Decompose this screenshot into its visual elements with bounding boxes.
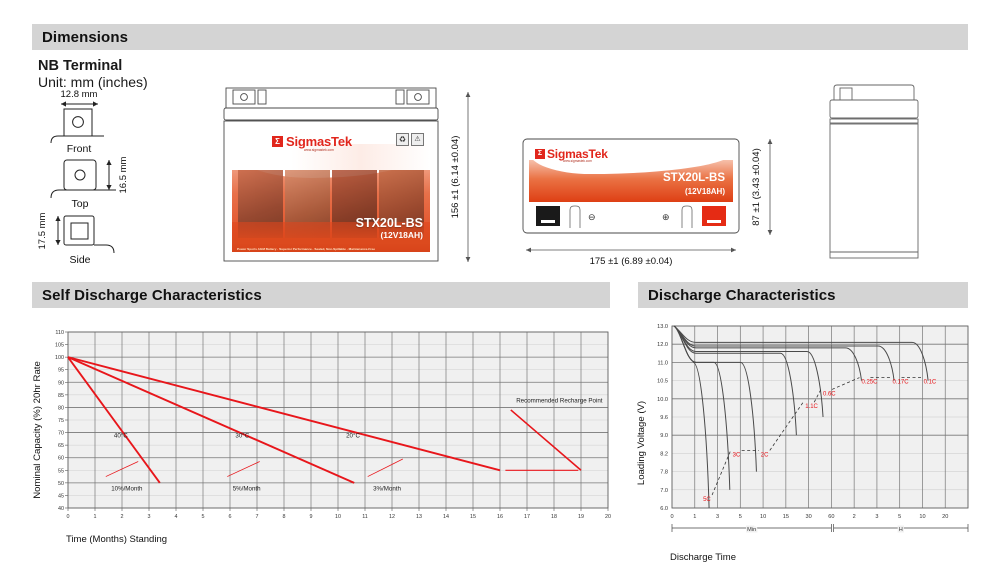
battery-rating-front: (12V18AH) <box>380 230 423 240</box>
discharge-section-header: Discharge Characteristics <box>638 282 968 308</box>
battery-rating-side: (12V18AH) <box>685 187 725 196</box>
svg-text:3: 3 <box>875 514 878 520</box>
self-discharge-xlabel: Time (Months) Standing <box>66 534 167 545</box>
battery-height-text: 156 ±1 (6.14 ±0.04) <box>450 136 461 219</box>
recycle-icon: ♻ <box>396 133 409 146</box>
svg-text:1: 1 <box>693 514 696 520</box>
svg-text:40°C: 40°C <box>114 433 128 440</box>
discharge-xlabel: Discharge Time <box>670 552 736 563</box>
svg-text:10: 10 <box>335 514 341 520</box>
terminal-height-label: 17.5 mm <box>37 212 48 249</box>
svg-text:10%/Month: 10%/Month <box>111 485 143 492</box>
svg-text:85: 85 <box>58 393 64 399</box>
svg-text:4: 4 <box>175 514 178 520</box>
svg-text:5: 5 <box>898 514 901 520</box>
battery-height-dimension: 156 ±1 (6.14 ±0.04) <box>440 80 500 270</box>
svg-text:3C: 3C <box>733 452 741 458</box>
svg-text:15: 15 <box>783 514 789 520</box>
nb-terminal-heading-block: NB Terminal Unit: mm (inches) <box>38 58 148 91</box>
svg-text:13: 13 <box>416 514 422 520</box>
battery-width-text: 87 ±1 (3.43 ±0.04) <box>751 148 762 226</box>
svg-text:45: 45 <box>58 493 64 499</box>
svg-text:Min: Min <box>747 527 756 533</box>
svg-text:0.6C: 0.6C <box>823 391 836 397</box>
svg-text:7.0: 7.0 <box>660 488 668 494</box>
battery-brand-block: Σ SigmasTek <box>272 134 352 149</box>
svg-text:80: 80 <box>58 405 64 411</box>
positive-terminal <box>702 206 726 226</box>
battery-front-view: Σ SigmasTek www.sigmastek.com ♻ ⚠ STX20L… <box>222 86 442 264</box>
svg-text:10: 10 <box>760 514 766 520</box>
battery-side-view: Σ SigmasTek www.sigmastek.com STX20L-BS … <box>522 138 740 234</box>
battery-model-front: STX20L-BS <box>356 216 423 230</box>
negative-terminal <box>536 206 560 226</box>
svg-text:60: 60 <box>828 514 834 520</box>
svg-text:H: H <box>899 527 903 533</box>
svg-text:90: 90 <box>58 380 64 386</box>
svg-text:15: 15 <box>470 514 476 520</box>
svg-text:17: 17 <box>524 514 530 520</box>
svg-text:5: 5 <box>202 514 205 520</box>
svg-text:20°C: 20°C <box>346 433 360 440</box>
nb-terminal-heading: NB Terminal <box>38 58 148 74</box>
svg-text:8: 8 <box>283 514 286 520</box>
svg-text:1.1C: 1.1C <box>805 404 818 410</box>
terminal-side-label: Side <box>69 254 90 266</box>
no-fire-icon: ⚠ <box>411 133 424 146</box>
svg-text:5: 5 <box>739 514 742 520</box>
svg-text:65: 65 <box>58 443 64 449</box>
svg-text:10.5: 10.5 <box>657 379 668 385</box>
svg-text:11: 11 <box>362 514 368 520</box>
terminal-width-label: 12.8 mm <box>61 89 98 100</box>
svg-text:14: 14 <box>443 514 449 520</box>
svg-text:10.0: 10.0 <box>657 397 668 403</box>
brand-website-front: www.sigmastek.com <box>304 148 334 152</box>
svg-text:12: 12 <box>389 514 395 520</box>
svg-text:9.0: 9.0 <box>660 433 668 439</box>
self-discharge-section-header: Self Discharge Characteristics <box>32 282 610 308</box>
svg-text:2: 2 <box>121 514 124 520</box>
battery-length-text: 175 ±1 (6.89 ±0.04) <box>590 256 673 267</box>
svg-text:60: 60 <box>58 456 64 462</box>
terminal-front-label: Front <box>67 143 92 155</box>
battery-length-dimension: 175 ±1 (6.89 ±0.04) <box>518 242 744 274</box>
svg-text:3: 3 <box>716 514 719 520</box>
terminal-top-label: Top <box>72 198 89 210</box>
svg-text:2C: 2C <box>761 452 769 458</box>
svg-text:12.0: 12.0 <box>657 342 668 348</box>
svg-text:0.1C: 0.1C <box>924 380 937 386</box>
svg-text:5C: 5C <box>703 497 711 503</box>
svg-text:95: 95 <box>58 368 64 374</box>
self-discharge-title: Self Discharge Characteristics <box>42 287 262 304</box>
svg-text:13.0: 13.0 <box>657 324 668 330</box>
svg-text:11.0: 11.0 <box>658 360 668 366</box>
svg-text:8.2: 8.2 <box>660 451 668 457</box>
discharge-ylabel: Loading Voltage (V) <box>636 401 647 485</box>
svg-text:75: 75 <box>58 418 64 424</box>
svg-text:105: 105 <box>55 343 64 349</box>
battery-profile-view <box>820 78 960 268</box>
svg-text:Recommended Recharge Point: Recommended Recharge Point <box>516 397 603 404</box>
svg-text:3%/Month: 3%/Month <box>373 485 401 492</box>
discharge-title: Discharge Characteristics <box>648 287 836 304</box>
svg-text:16: 16 <box>497 514 503 520</box>
terminal-views-diagram: 12.8 mm Front 16.5 mm Top 17.5 mm Side <box>34 88 214 278</box>
dimensions-title: Dimensions <box>42 29 128 46</box>
terminal-depth-label: 16.5 mm <box>118 156 129 193</box>
svg-text:20: 20 <box>942 514 948 520</box>
brand-logo-icon-side: Σ <box>535 149 545 159</box>
self-discharge-ylabel: Nominal Capacity (%) 20hr Rate <box>32 361 43 499</box>
svg-text:9.6: 9.6 <box>660 415 668 421</box>
discharge-chart: 6.07.07.88.29.09.610.010.511.012.013.0 5… <box>630 318 980 580</box>
svg-text:40: 40 <box>58 506 64 512</box>
brand-name-front: SigmasTek <box>286 134 352 149</box>
svg-text:3: 3 <box>148 514 151 520</box>
dimensions-section-header: Dimensions <box>32 24 968 50</box>
svg-text:0: 0 <box>67 514 70 520</box>
svg-text:10: 10 <box>919 514 925 520</box>
svg-text:5%/Month: 5%/Month <box>233 485 261 492</box>
svg-text:0.25C: 0.25C <box>861 380 878 386</box>
self-discharge-chart: 4045505560657075808590951001051100123456… <box>20 320 620 570</box>
svg-text:19: 19 <box>578 514 584 520</box>
brand-website-side: www.sigmastek.com <box>563 159 592 163</box>
svg-text:6: 6 <box>229 514 232 520</box>
svg-text:9: 9 <box>310 514 313 520</box>
svg-text:1: 1 <box>94 514 97 520</box>
battery-model-side: STX20L-BS <box>663 172 725 184</box>
battery-tagline: Power Sports AGM Battery · Superior Perf… <box>237 247 427 251</box>
battery-width-dimension: 87 ±1 (3.43 ±0.04) <box>744 133 794 243</box>
svg-text:30: 30 <box>805 514 811 520</box>
svg-text:20: 20 <box>605 514 611 520</box>
svg-text:0: 0 <box>670 514 673 520</box>
svg-text:110: 110 <box>55 330 64 336</box>
svg-text:0.17C: 0.17C <box>893 380 910 386</box>
svg-text:55: 55 <box>58 468 64 474</box>
svg-text:2: 2 <box>853 514 856 520</box>
svg-text:100: 100 <box>55 355 64 361</box>
brand-logo-icon: Σ <box>272 136 283 147</box>
svg-text:30°C: 30°C <box>235 433 249 440</box>
svg-text:7.8: 7.8 <box>660 470 668 476</box>
svg-text:6.0: 6.0 <box>660 506 668 512</box>
svg-text:50: 50 <box>58 481 64 487</box>
svg-text:70: 70 <box>58 431 64 437</box>
svg-text:18: 18 <box>551 514 557 520</box>
svg-text:7: 7 <box>256 514 259 520</box>
